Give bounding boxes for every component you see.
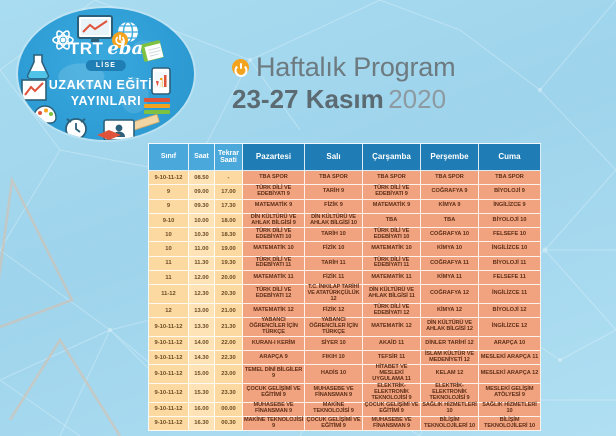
logo-brand: TRTeba: [18, 38, 194, 59]
cell-carsamba: MATEMATİK 10: [363, 242, 421, 256]
page-title: Haftalık Program: [256, 52, 455, 83]
cell-persembe: KİMYA 10: [421, 242, 479, 256]
cell-saat: 13.30: [189, 318, 215, 337]
column-header-saat: Saat: [189, 144, 215, 171]
table-row: 9-10-11-1215.0023.00TEMEL DİNİ BİLGİLER …: [149, 365, 541, 384]
cell-sinif: 11: [149, 271, 189, 285]
cell-tekrar: -: [215, 171, 243, 185]
cell-tekrar: 17.00: [215, 185, 243, 199]
table-header-row: Sınıf Saat Tekrar Saati Pazartesi Salı Ç…: [149, 144, 541, 171]
cell-tekrar: 22.30: [215, 351, 243, 365]
cell-sali: TARİH 9: [305, 185, 363, 199]
cell-tekrar: 23.30: [215, 384, 243, 403]
logo-trt-text: TRT: [69, 39, 104, 59]
table-row: 909.0017.00TÜRK DİLİ VE EDEBİYATI 9TARİH…: [149, 185, 541, 199]
cell-carsamba: TÜRK DİLİ VE EDEBİYATI 12: [363, 303, 421, 317]
cell-cuma: MESLEKİ GELİŞİM ATÖLYESİ 9: [479, 384, 541, 403]
cell-cuma: İNGİLİZCE 12: [479, 318, 541, 337]
cell-carsamba: TEFSİR 11: [363, 351, 421, 365]
cell-carsamba: HİTABET VE MESLEKİ UYGULAMA 11: [363, 365, 421, 384]
cell-pazartesi: KURAN-I KERİM: [243, 336, 305, 350]
cell-persembe: KELAM 12: [421, 365, 479, 384]
cell-saat: 15.00: [189, 365, 215, 384]
cell-persembe: BİLİŞİM TEKNOLOJİLERİ 10: [421, 416, 479, 430]
column-header-cuma: Cuma: [479, 144, 541, 171]
table-row: 1111.3019.30TÜRK DİLİ VE EDEBİYATI 11TAR…: [149, 256, 541, 270]
table-row: 9-1010.0018.00DİN KÜLTÜRÜ VE AHLAK BİLGİ…: [149, 213, 541, 227]
cell-tekrar: 23.00: [215, 365, 243, 384]
alarm-clock-icon: [62, 114, 90, 140]
cell-sinif: 11: [149, 256, 189, 270]
cell-carsamba: AKAİD 11: [363, 336, 421, 350]
column-header-sinif: Sınıf: [149, 144, 189, 171]
page-header: Haftalık Program 23-27 Kasım 2020: [232, 52, 455, 115]
table-row: 11-1212.3020.30TÜRK DİLİ VE EDEBİYATI 12…: [149, 285, 541, 304]
cell-carsamba: ÇOCUK GELİŞİMİ VE EĞİTİMİ 9: [363, 402, 421, 416]
cell-saat: 12.30: [189, 285, 215, 304]
cell-saat: 12.00: [189, 271, 215, 285]
weekly-schedule-table: Sınıf Saat Tekrar Saati Pazartesi Salı Ç…: [148, 143, 541, 431]
cell-persembe: TBA: [421, 213, 479, 227]
table-row: 9-10-11-1215.3023.30ÇOCUK GELİŞİMİ VE EĞ…: [149, 384, 541, 403]
cell-saat: 09.30: [189, 199, 215, 213]
cell-tekrar: 00.30: [215, 416, 243, 430]
cell-persembe: COĞRAFYA 11: [421, 256, 479, 270]
cell-carsamba: MATEMATİK 11: [363, 271, 421, 285]
cell-saat: 10.00: [189, 213, 215, 227]
cell-saat: 14.00: [189, 336, 215, 350]
cell-saat: 14.30: [189, 351, 215, 365]
graduation-cap-icon: [96, 128, 122, 140]
cell-pazartesi: TBA SPOR: [243, 171, 305, 185]
table-row: 9-10-11-1208.50-TBA SPORTBA SPORTBA SPOR…: [149, 171, 541, 185]
cell-persembe: KİMYA 11: [421, 271, 479, 285]
cell-cuma: ARAPÇA 10: [479, 336, 541, 350]
cell-persembe: SAĞLIK HİZMETLERİ 10: [421, 402, 479, 416]
cell-pazartesi: DİN KÜLTÜRÜ VE AHLAK BİLGİSİ 9: [243, 213, 305, 227]
cell-tekrar: 20.00: [215, 271, 243, 285]
logo-eba-text: eba: [107, 38, 143, 59]
column-header-persembe: Perşembe: [421, 144, 479, 171]
cell-pazartesi: YABANCI ÖĞRENCİLER İÇİN TÜRKÇE: [243, 318, 305, 337]
cell-cuma: BİYOLOJİ 11: [479, 256, 541, 270]
cell-tekrar: 20.30: [215, 285, 243, 304]
cell-sinif: 11-12: [149, 285, 189, 304]
cell-pazartesi: TÜRK DİLİ VE EDEBİYATI 10: [243, 228, 305, 242]
cell-pazartesi: MAKİNE TEKNOLOJİSİ 9: [243, 416, 305, 430]
cell-carsamba: MUHASEBE VE FİNANSMAN 9: [363, 416, 421, 430]
column-header-carsamba: Çarşamba: [363, 144, 421, 171]
cell-persembe: KİMYA 9: [421, 199, 479, 213]
logo-tagline-line1: UZAKTAN EĞİTİM: [18, 78, 194, 92]
cell-pazartesi: MATEMATİK 10: [243, 242, 305, 256]
cell-pazartesi: TEMEL DİNİ BİLGİLER 9: [243, 365, 305, 384]
cell-sinif: 9-10-11-12: [149, 365, 189, 384]
cell-pazartesi: ARAPÇA 9: [243, 351, 305, 365]
cell-sinif: 9-10-11-12: [149, 351, 189, 365]
table-row: 9-10-11-1213.3021.30YABANCI ÖĞRENCİLER İ…: [149, 318, 541, 337]
cell-saat: 11.30: [189, 256, 215, 270]
cell-sinif: 10: [149, 228, 189, 242]
cell-pazartesi: TÜRK DİLİ VE EDEBİYATI 11: [243, 256, 305, 270]
cell-persembe: TBA SPOR: [421, 171, 479, 185]
cell-tekrar: 19.30: [215, 256, 243, 270]
cell-sali: TARİH 10: [305, 228, 363, 242]
cell-pazartesi: TÜRK DİLİ VE EDEBİYATI 12: [243, 285, 305, 304]
cell-sinif: 9-10: [149, 213, 189, 227]
logo-level-badge: LİSE: [86, 60, 126, 71]
cell-cuma: BİLİŞİM TEKNOLOJİLERİ 10: [479, 416, 541, 430]
cell-sali: FİZİK 11: [305, 271, 363, 285]
cell-pazartesi: MATEMATİK 9: [243, 199, 305, 213]
cell-tekrar: 18.00: [215, 213, 243, 227]
cell-tekrar: 19.00: [215, 242, 243, 256]
column-header-pazartesi: Pazartesi: [243, 144, 305, 171]
cell-persembe: İSLAM KÜLTÜR VE MEDENİYETİ 12: [421, 351, 479, 365]
cell-sali: TARİH 11: [305, 256, 363, 270]
cell-persembe: COĞRAFYA 9: [421, 185, 479, 199]
cell-sinif: 9-10-11-12: [149, 336, 189, 350]
cell-sali: SİYER 10: [305, 336, 363, 350]
cell-cuma: MESLEKİ ARAPÇA 11: [479, 351, 541, 365]
cell-sinif: 12: [149, 303, 189, 317]
power-icon: [232, 59, 249, 76]
cell-persembe: COĞRAFYA 10: [421, 228, 479, 242]
cell-persembe: COĞRAFYA 12: [421, 285, 479, 304]
cell-cuma: BİYOLOJİ 10: [479, 213, 541, 227]
cell-carsamba: TBA: [363, 213, 421, 227]
cell-pazartesi: MATEMATİK 11: [243, 271, 305, 285]
cell-persembe: ELEKTRİK-ELEKTRONİK TEKNOLOJİSİ 9: [421, 384, 479, 403]
logo-tagline-line2: YAYINLARI: [18, 94, 194, 108]
cell-sali: TBA SPOR: [305, 171, 363, 185]
header-date-row: 23-27 Kasım 2020: [232, 84, 455, 115]
cell-sali: MUHASEBE VE FİNANSMAN 9: [305, 384, 363, 403]
cell-carsamba: TBA SPOR: [363, 171, 421, 185]
cell-sali: FİZİK 9: [305, 199, 363, 213]
cell-carsamba: MATEMATİK 12: [363, 318, 421, 337]
cell-sali: DİN KÜLTÜRÜ VE AHLAK BİLGİSİ 10: [305, 213, 363, 227]
cell-tekrar: 21.00: [215, 303, 243, 317]
cell-sali: T.C. İNKILAP TARİHİ VE ATATÜRKÇÜLÜK 12: [305, 285, 363, 304]
cell-tekrar: 21.30: [215, 318, 243, 337]
cell-sinif: 9-10-11-12: [149, 384, 189, 403]
cell-sali: FİZİK 12: [305, 303, 363, 317]
cell-cuma: İNGİLİZCE 9: [479, 199, 541, 213]
cell-sali: FİZİK 10: [305, 242, 363, 256]
cell-cuma: TBA SPOR: [479, 171, 541, 185]
cell-tekrar: 00.00: [215, 402, 243, 416]
cell-carsamba: DİN KÜLTÜRÜ VE AHLAK BİLGİSİ 11: [363, 285, 421, 304]
cell-carsamba: TÜRK DİLİ VE EDEBİYATI 10: [363, 228, 421, 242]
table-row: 1010.3018.30TÜRK DİLİ VE EDEBİYATI 10TAR…: [149, 228, 541, 242]
cell-saat: 16.30: [189, 416, 215, 430]
cell-carsamba: ELEKTRİK-ELEKTRONİK TEKNOLOJİSİ 9: [363, 384, 421, 403]
table-row: 9-10-11-1216.3000.30MAKİNE TEKNOLOJİSİ 9…: [149, 416, 541, 430]
cell-cuma: BİYOLOJİ 12: [479, 303, 541, 317]
cell-sinif: 9-10-11-12: [149, 318, 189, 337]
cell-persembe: DİNLER TARİHİ 12: [421, 336, 479, 350]
cell-saat: 09.00: [189, 185, 215, 199]
column-header-tekrar: Tekrar Saati: [215, 144, 243, 171]
cell-cuma: BİYOLOJİ 9: [479, 185, 541, 199]
cell-sinif: 9-10-11-12: [149, 416, 189, 430]
header-title-row: Haftalık Program: [232, 52, 455, 83]
cell-tekrar: 22.00: [215, 336, 243, 350]
cell-persembe: DİN KÜLTÜRÜ VE AHLAK BİLGİSİ 12: [421, 318, 479, 337]
cell-sali: ÇOCUK GELİŞİMİ VE EĞİTİMİ 9: [305, 416, 363, 430]
cell-persembe: KİMYA 12: [421, 303, 479, 317]
cell-cuma: İNGİLİZCE 10: [479, 242, 541, 256]
table-row: 9-10-11-1214.3022.30ARAPÇA 9FIKIH 10TEFS…: [149, 351, 541, 365]
cell-cuma: SAĞLIK HİZMETLERİ 10: [479, 402, 541, 416]
table-row: 9-10-11-1214.0022.00KURAN-I KERİMSİYER 1…: [149, 336, 541, 350]
year: 2020: [388, 84, 446, 114]
table-row: 909.3017.30MATEMATİK 9FİZİK 9MATEMATİK 9…: [149, 199, 541, 213]
cell-pazartesi: MATEMATİK 12: [243, 303, 305, 317]
cell-sali: MAKİNE TEKNOLOJİSİ 9: [305, 402, 363, 416]
table-body: 9-10-11-1208.50-TBA SPORTBA SPORTBA SPOR…: [149, 171, 541, 431]
table-row: 1213.0021.00MATEMATİK 12FİZİK 12TÜRK DİL…: [149, 303, 541, 317]
table-row: 9-10-11-1216.0000.00MUHASEBE VE FİNANSMA…: [149, 402, 541, 416]
cell-cuma: FELSEFE 11: [479, 271, 541, 285]
cell-cuma: FELSEFE 10: [479, 228, 541, 242]
cell-pazartesi: ÇOCUK GELİŞİMİ VE EĞİTİMİ 9: [243, 384, 305, 403]
cell-tekrar: 18.30: [215, 228, 243, 242]
cell-sinif: 10: [149, 242, 189, 256]
cell-sali: HADİS 10: [305, 365, 363, 384]
column-header-sali: Salı: [305, 144, 363, 171]
cell-carsamba: TÜRK DİLİ VE EDEBİYATI 11: [363, 256, 421, 270]
cell-saat: 11.00: [189, 242, 215, 256]
table-row: 1011.0019.00MATEMATİK 10FİZİK 10MATEMATİ…: [149, 242, 541, 256]
cell-sinif: 9-10-11-12: [149, 402, 189, 416]
cell-pazartesi: MUHASEBE VE FİNANSMAN 9: [243, 402, 305, 416]
date-range: 23-27 Kasım: [232, 84, 384, 114]
cell-saat: 08.50: [189, 171, 215, 185]
cell-tekrar: 17.30: [215, 199, 243, 213]
cell-cuma: İNGİLİZCE 11: [479, 285, 541, 304]
cell-sali: FIKIH 10: [305, 351, 363, 365]
cell-saat: 16.00: [189, 402, 215, 416]
cell-saat: 15.30: [189, 384, 215, 403]
cell-cuma: MESLEKİ ARAPÇA 12: [479, 365, 541, 384]
table-row: 1112.0020.00MATEMATİK 11FİZİK 11MATEMATİ…: [149, 271, 541, 285]
trt-eba-lise-logo: TRTeba LİSE UZAKTAN EĞİTİM YAYINLARI: [18, 8, 194, 140]
cell-sinif: 9: [149, 185, 189, 199]
cell-carsamba: TÜRK DİLİ VE EDEBİYATI 9: [363, 185, 421, 199]
cell-saat: 13.00: [189, 303, 215, 317]
cell-sinif: 9-10-11-12: [149, 171, 189, 185]
cell-pazartesi: TÜRK DİLİ VE EDEBİYATI 9: [243, 185, 305, 199]
cell-sali: YABANCI ÖĞRENCİLER İÇİN TÜRKÇE: [305, 318, 363, 337]
cell-saat: 10.30: [189, 228, 215, 242]
cell-carsamba: MATEMATİK 9: [363, 199, 421, 213]
cell-sinif: 9: [149, 199, 189, 213]
